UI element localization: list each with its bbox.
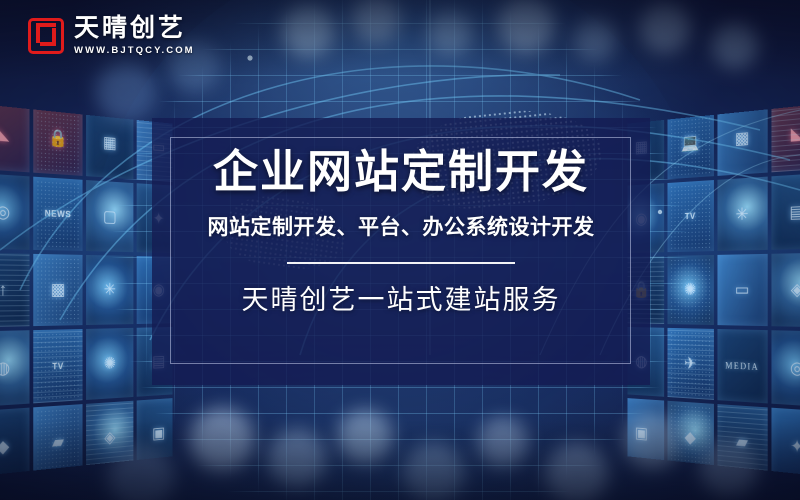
monogram-stroke-horizontal	[40, 42, 56, 46]
brand-logo-text: 天晴创艺 WWW.BJTQCY.COM	[74, 16, 195, 56]
company-website: WWW.BJTQCY.COM	[74, 46, 195, 56]
banner-canvas: ◣🔒▦▭◎NEWS▢✦↑▩✳◉◍TV✺▤◆▰◈▣ ▦💻▩◣◉TV✳▤🔒✺▭◈◍✈…	[0, 0, 800, 500]
brand-logo[interactable]: 天晴创艺 WWW.BJTQCY.COM	[28, 16, 195, 56]
page-title: 企业网站定制开发	[213, 148, 589, 197]
company-name: 天晴创艺	[74, 16, 195, 41]
panel-content: 企业网站定制开发 网站定制开发、平台、办公系统设计开发 天晴创艺一站式建站服务	[152, 118, 650, 385]
tianqing-monogram-icon	[28, 18, 64, 54]
headline-panel: 企业网站定制开发 网站定制开发、平台、办公系统设计开发 天晴创艺一站式建站服务	[152, 118, 650, 385]
page-tagline: 天晴创艺一站式建站服务	[242, 284, 561, 316]
divider	[287, 262, 515, 264]
page-subtitle: 网站定制开发、平台、办公系统设计开发	[208, 215, 595, 240]
